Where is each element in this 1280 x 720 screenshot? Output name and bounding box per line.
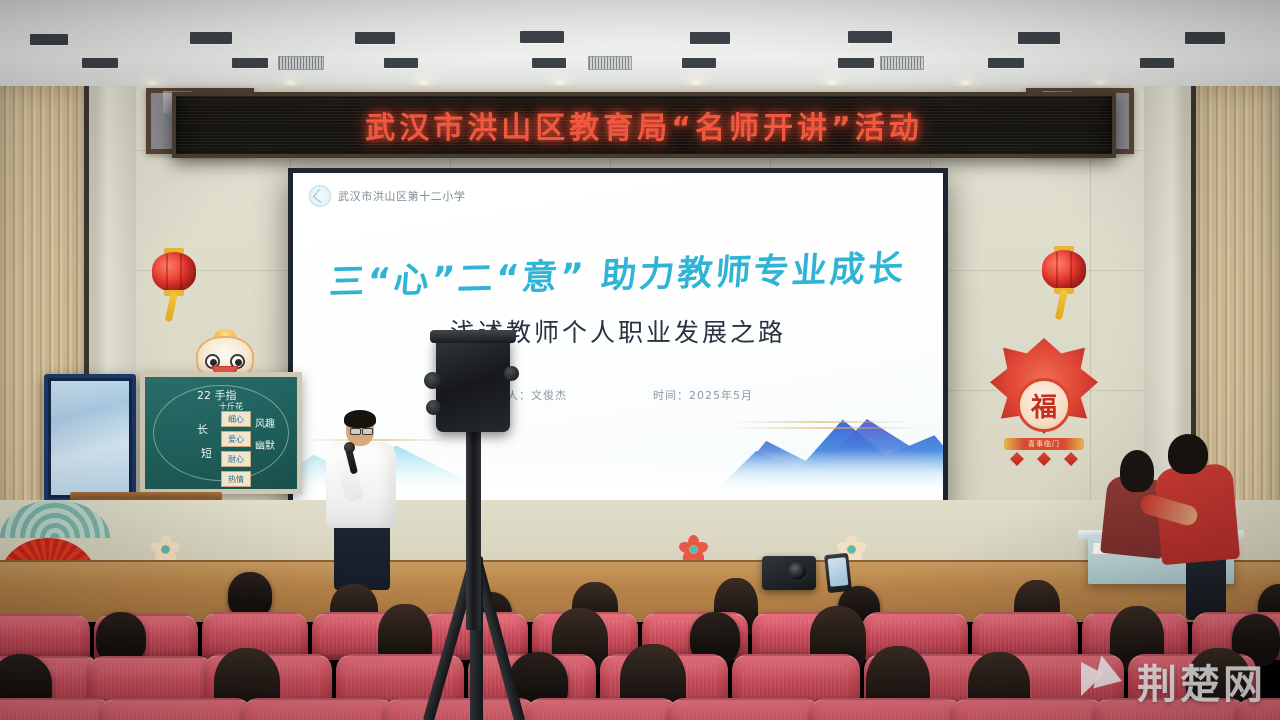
presenter-glasses: [362, 428, 373, 435]
fu-wall-decoration: 福 喜事临门: [986, 338, 1102, 468]
tripod-knob: [504, 366, 519, 381]
side-display[interactable]: [44, 374, 136, 502]
gold-accent: [733, 421, 913, 423]
ceiling: [0, 0, 1280, 92]
ceiling-vent: [520, 31, 564, 43]
tripod-knob: [426, 400, 441, 415]
camera-lens-icon: [786, 560, 808, 582]
audience-seat: [100, 698, 252, 720]
tripod-knob: [424, 372, 441, 389]
led-banner: 武汉市洪山区教育局“名师开讲”活动: [172, 92, 1116, 158]
ceiling-vent: [232, 58, 268, 68]
chalkboard: 22 手指 十斤花 长 短 风趣 幽默 细心 爱心 耐心 热情: [140, 372, 302, 494]
lecture-hall-photo: 武汉市洪山区教育局“名师开讲”活动 福 喜事临门 武: [0, 0, 1280, 720]
red-lantern-right: [1042, 250, 1086, 290]
chalk-word-left-2: 短: [201, 445, 212, 461]
audience-seat: [1236, 698, 1280, 720]
board-card: 细心: [221, 411, 251, 427]
ceiling-air-grille: [278, 56, 324, 70]
gold-accent: [303, 439, 453, 441]
chalk-word-right-1: 风趣: [255, 415, 275, 430]
audience-seat: [668, 698, 820, 720]
ceiling-air-grille: [588, 56, 632, 70]
ceiling-vent: [838, 58, 874, 68]
ceiling-vent: [532, 58, 566, 68]
staff-b-hair: [1168, 434, 1208, 474]
tripod-head: [436, 336, 510, 432]
ceiling-air-grille: [880, 56, 924, 70]
audience-seat: [952, 698, 1104, 720]
board-card: 热情: [221, 471, 251, 487]
ceiling-vent: [988, 58, 1024, 68]
audience-seating: [0, 556, 1280, 720]
smartphone-screen: [828, 557, 849, 587]
fu-band-text: 喜事临门: [1004, 438, 1084, 450]
slide-school-name: 武汉市洪山区第十二小学: [338, 188, 466, 204]
presenter-torso: [326, 442, 396, 528]
audience-seat: [810, 698, 962, 720]
red-lantern-left: [152, 252, 196, 292]
audience-seat: [526, 698, 678, 720]
audience-seat: [242, 698, 394, 720]
ceiling-vent: [1185, 32, 1225, 44]
chalk-word-left-1: 长: [197, 421, 208, 437]
side-display-screen: [51, 381, 129, 495]
ceiling-vent: [355, 32, 395, 44]
ceiling-vent: [1140, 58, 1174, 68]
board-card: 爱心: [221, 431, 251, 447]
slide-school-logo: 武汉市洪山区第十二小学: [309, 185, 466, 207]
tripod-quick-release-plate: [430, 330, 516, 343]
tripod-column: [466, 430, 481, 630]
ceiling-vent: [30, 34, 68, 45]
microphone-head: [344, 442, 355, 453]
ceiling-vent: [848, 31, 892, 43]
presenter-hair: [344, 410, 376, 428]
ceiling-vent: [384, 58, 418, 68]
ceiling-vent: [690, 32, 730, 44]
led-banner-text: 武汉市洪山区教育局“名师开讲”活动: [365, 103, 922, 147]
fu-character: 福: [1017, 378, 1071, 432]
ceiling-vent: [82, 58, 118, 68]
school-crest-icon: [309, 185, 331, 207]
gold-accent: [733, 427, 923, 429]
ceiling-vent: [1018, 32, 1060, 44]
audience-seat: [1094, 698, 1246, 720]
slide-title: 三“心”二“意” 助力教师专业成长: [293, 239, 943, 306]
board-card: 耐心: [221, 451, 251, 467]
presenter-glasses: [350, 428, 361, 435]
wave-decor: [0, 500, 110, 538]
ceiling-vent: [682, 58, 716, 68]
chalk-word-right-2: 幽默: [255, 437, 275, 452]
staff-a-hair: [1120, 450, 1154, 492]
ceiling-vent: [190, 32, 232, 44]
slide-subtitle: 浅述教师个人职业发展之路: [293, 313, 943, 349]
audience-seat: [0, 698, 112, 720]
